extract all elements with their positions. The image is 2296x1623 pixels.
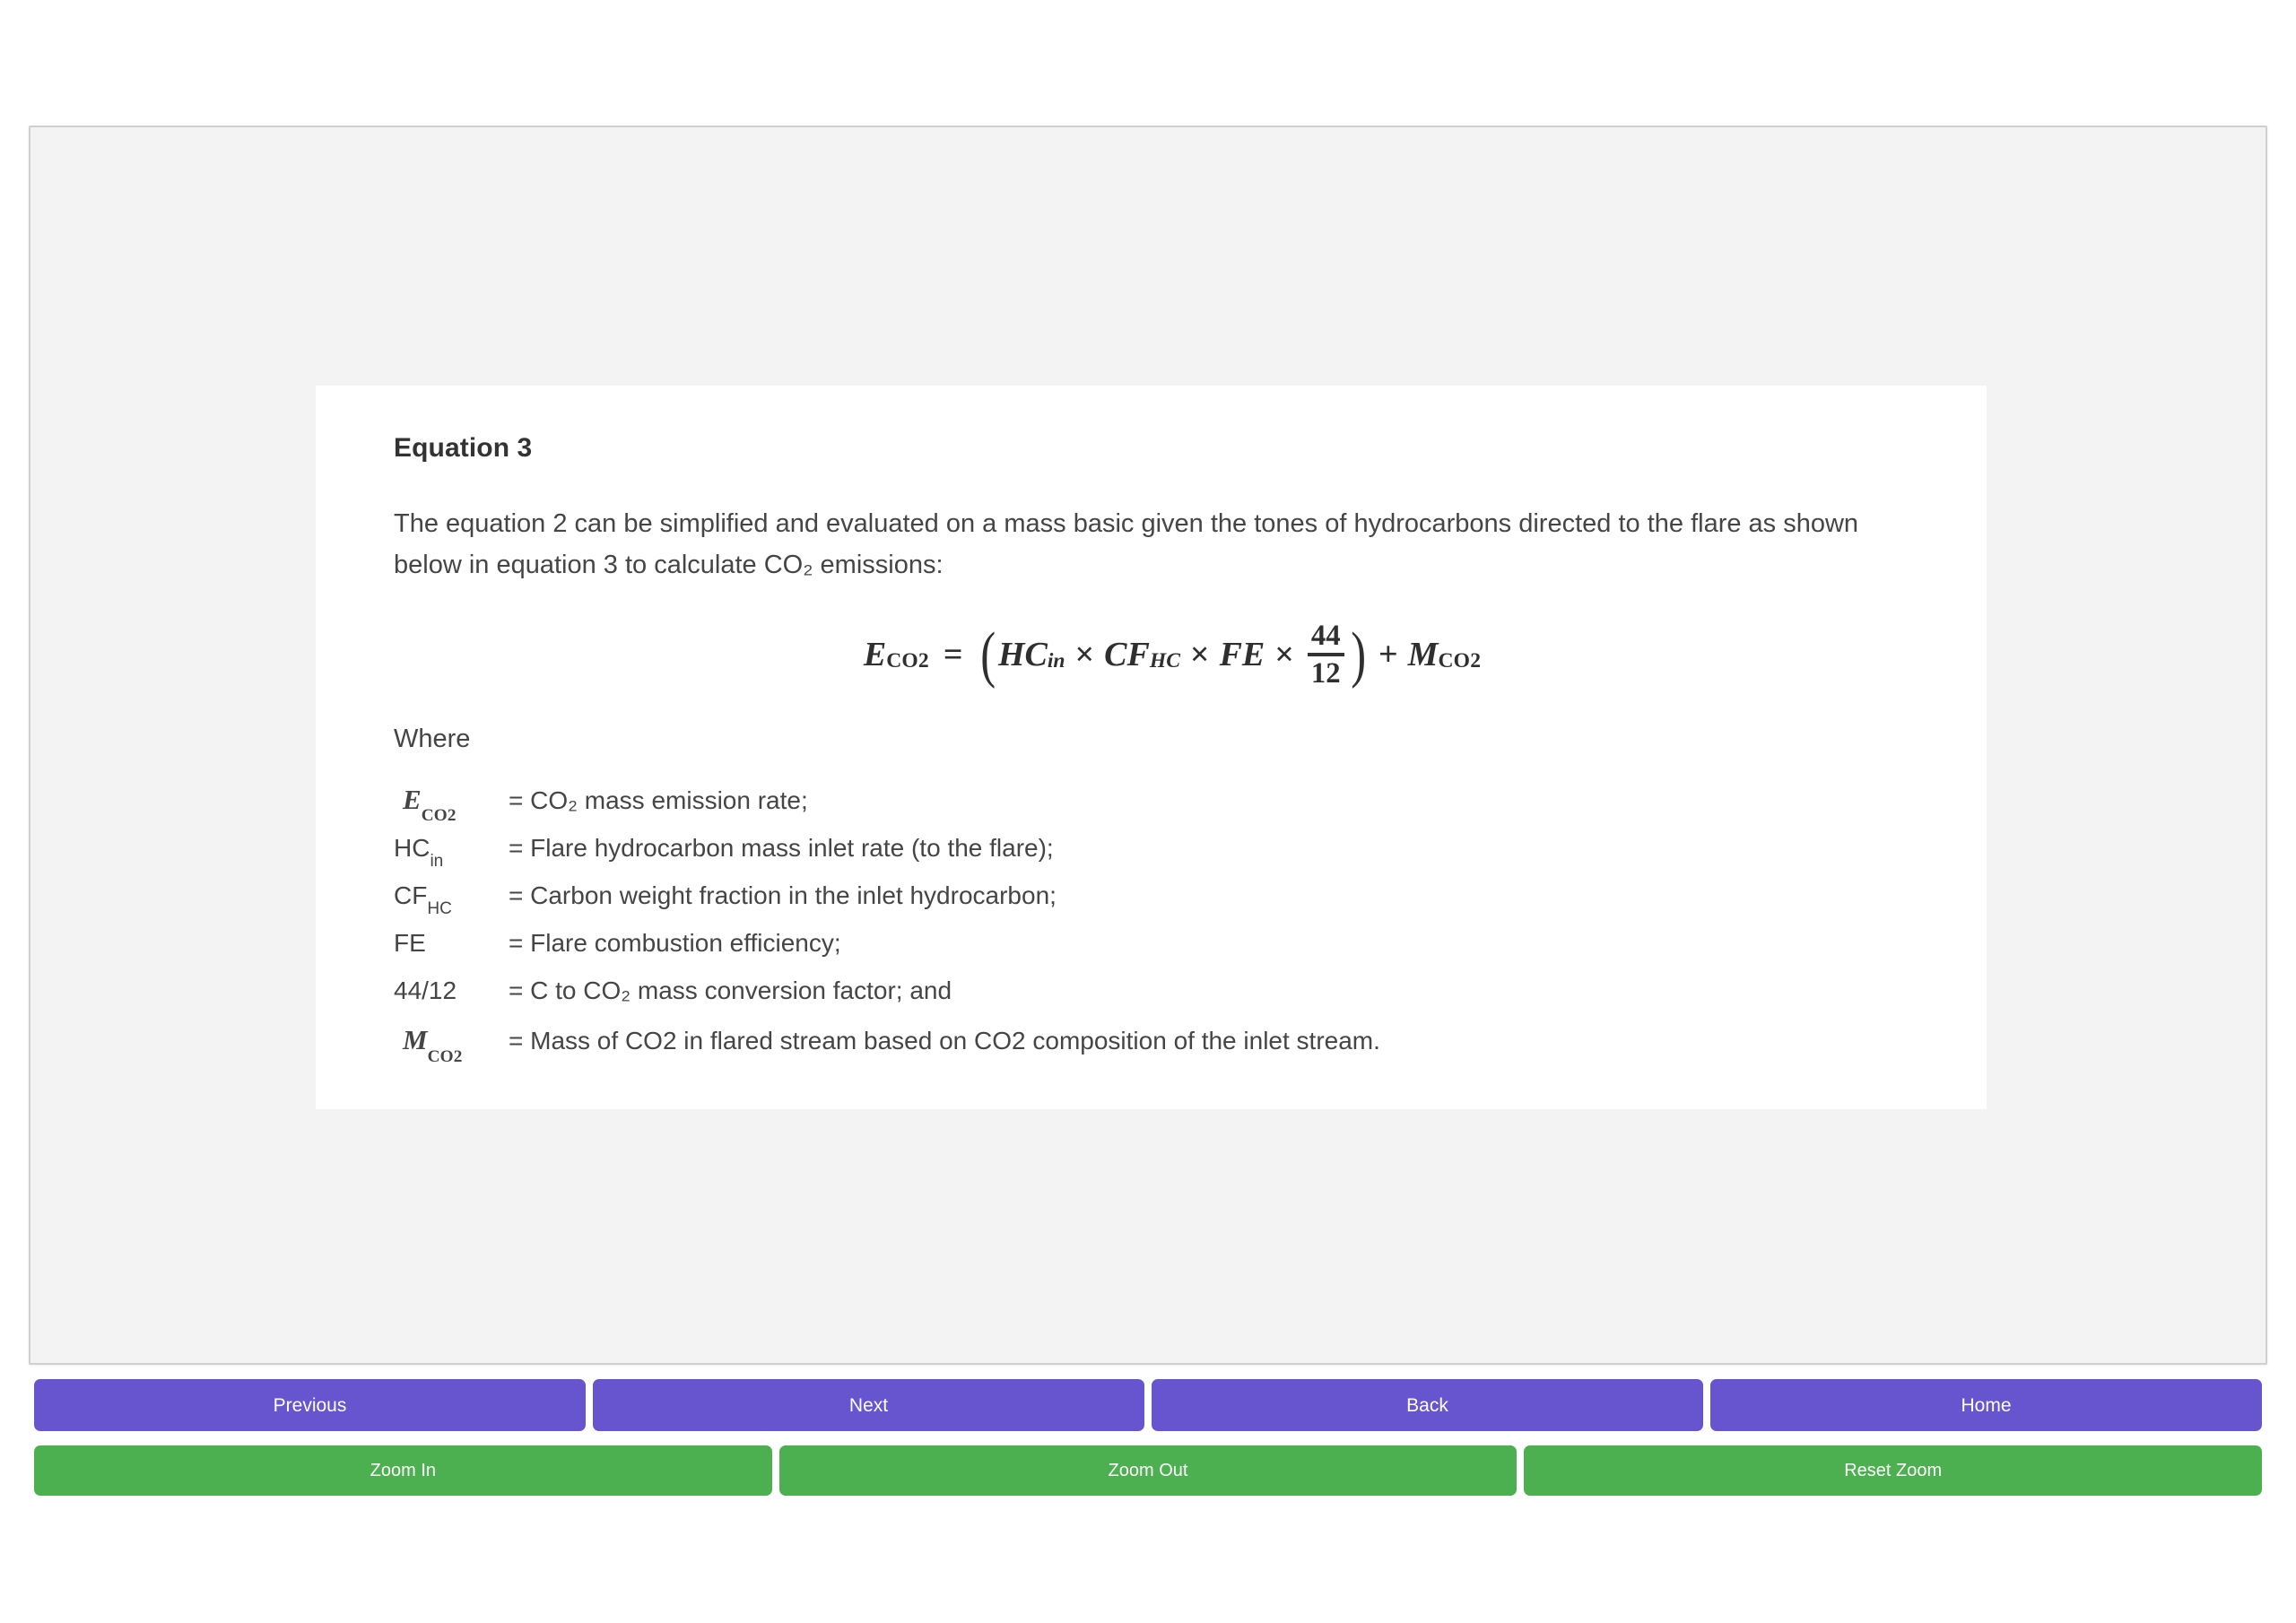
equation-expression: ECO2 = ( HCin × CFHC × FE × 44 12 [864,621,1481,689]
where-label: Where [394,725,1951,754]
definition-symbol: ECO2 [394,785,509,820]
equation-times-3: × [1274,635,1294,674]
slide-canvas: Equation 3 The equation 2 can be simplif… [316,386,1987,1109]
equation-close-paren: ) [1351,631,1366,679]
home-button[interactable]: Home [1710,1379,2262,1431]
equation-lhs-symbol: E [864,635,886,674]
reset-zoom-button[interactable]: Reset Zoom [1524,1445,2262,1496]
definition-text: = CO₂ mass emission rate; [509,787,808,814]
definition-symbol-base: FE [394,929,426,957]
definition-row: 44/12 = C to CO₂ mass conversion factor;… [394,977,1951,1010]
definition-symbol: CFHC [394,882,509,915]
equation-term2-subscript: HC [1150,649,1180,673]
equation-times-2: × [1190,635,1210,674]
definition-list: ECO2 = CO₂ mass emission rate; HCin = Fl… [394,785,1951,1061]
equation-equals-sign: = [944,635,963,674]
definition-row: MCO2 = Mass of CO2 in flared stream base… [394,1025,1951,1061]
equation-rhs-subscript: CO2 [1438,649,1481,673]
slide-heading: Equation 3 [394,432,1951,464]
definition-row: FE = Flare combustion efficiency; [394,930,1951,962]
equation-term1-subscript: in [1048,649,1065,673]
equation-term3-symbol: FE [1220,635,1265,674]
definition-symbol-base: M [403,1024,428,1055]
definition-text: = Flare hydrocarbon mass inlet rate (to … [509,835,1054,862]
equation-block: ECO2 = ( HCin × CFHC × FE × 44 12 [394,621,1951,689]
slide-paragraph: The equation 2 can be simplified and eva… [394,504,1927,586]
definition-symbol: MCO2 [394,1025,509,1061]
equation-lhs-subscript: CO2 [886,649,929,673]
slide-content: Equation 3 The equation 2 can be simplif… [394,432,1951,1076]
definition-text: = C to CO₂ mass conversion factor; and [509,977,952,1004]
equation-fraction: 44 12 [1308,621,1344,689]
definition-symbol-subscript: in [430,852,443,871]
definition-symbol-base: HC [394,834,430,862]
presentation-viewer-app: Equation 3 The equation 2 can be simplif… [0,0,2296,1623]
definition-row: HCin = Flare hydrocarbon mass inlet rate… [394,835,1951,867]
definition-row: CFHC = Carbon weight fraction in the inl… [394,882,1951,915]
zoom-out-button[interactable]: Zoom Out [779,1445,1518,1496]
zoom-in-button[interactable]: Zoom In [34,1445,772,1496]
definition-row: ECO2 = CO₂ mass emission rate; [394,785,1951,820]
definition-symbol: FE [394,930,509,962]
equation-times-1: × [1075,635,1095,674]
definition-text: = Mass of CO2 in flared stream based on … [509,1028,1380,1055]
definition-symbol-subscript: CO2 [428,1047,463,1066]
definition-text: = Flare combustion efficiency; [509,930,841,957]
back-button[interactable]: Back [1152,1379,1703,1431]
definition-symbol: 44/12 [394,977,509,1010]
definition-symbol-base: CF [394,881,427,909]
equation-fraction-numerator: 44 [1308,621,1344,651]
previous-button[interactable]: Previous [34,1379,586,1431]
equation-term2-symbol: CF [1104,635,1150,674]
zoom-button-bar: Zoom In Zoom Out Reset Zoom [34,1445,2262,1496]
definition-symbol-subscript: HC [427,899,452,918]
equation-fraction-denominator: 12 [1308,658,1344,689]
definition-symbol-base: E [403,784,422,815]
equation-rhs-symbol: M [1408,635,1439,674]
definition-symbol-base: 44/12 [394,976,457,1004]
equation-fraction-bar [1308,653,1344,656]
equation-term1-symbol: HC [998,635,1048,674]
navigation-button-bar: Previous Next Back Home [34,1379,2262,1431]
equation-plus-sign: + [1378,635,1398,674]
definition-symbol: HCin [394,835,509,867]
definition-text: = Carbon weight fraction in the inlet hy… [509,882,1057,909]
definition-symbol-subscript: CO2 [422,806,457,825]
equation-open-paren: ( [980,631,996,679]
slide-viewer-panel[interactable]: Equation 3 The equation 2 can be simplif… [29,126,2267,1365]
next-button[interactable]: Next [593,1379,1144,1431]
